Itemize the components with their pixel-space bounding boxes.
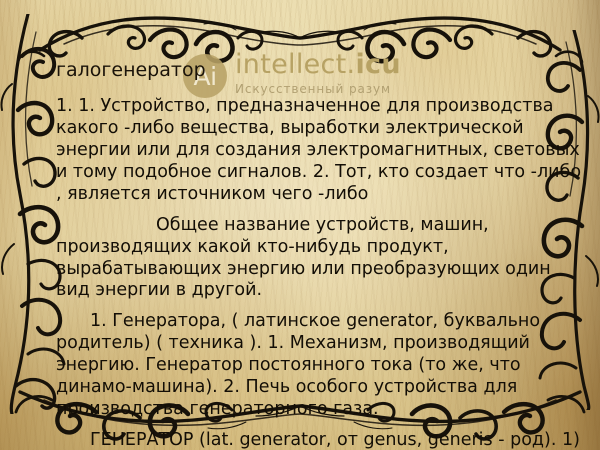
definition-paragraph-2: Общее название устройств, машин, произво… — [56, 215, 586, 303]
entry-title: галогенератор — [56, 60, 596, 82]
slide-content: галогенератор 1. 1. Устройство, предназн… — [56, 60, 596, 450]
definition-paragraph-3: 1. Генератора, ( латинское generator, бу… — [56, 311, 586, 421]
dictionary-slide: Ai intellect.icu Искусственный разум гал… — [0, 0, 600, 450]
definition-paragraph-1: 1. 1. Устройство, предназначенное для пр… — [56, 96, 586, 206]
definition-paragraph-4: ГЕНЕРАТОР (lat. generator, от genus, gen… — [56, 430, 586, 450]
